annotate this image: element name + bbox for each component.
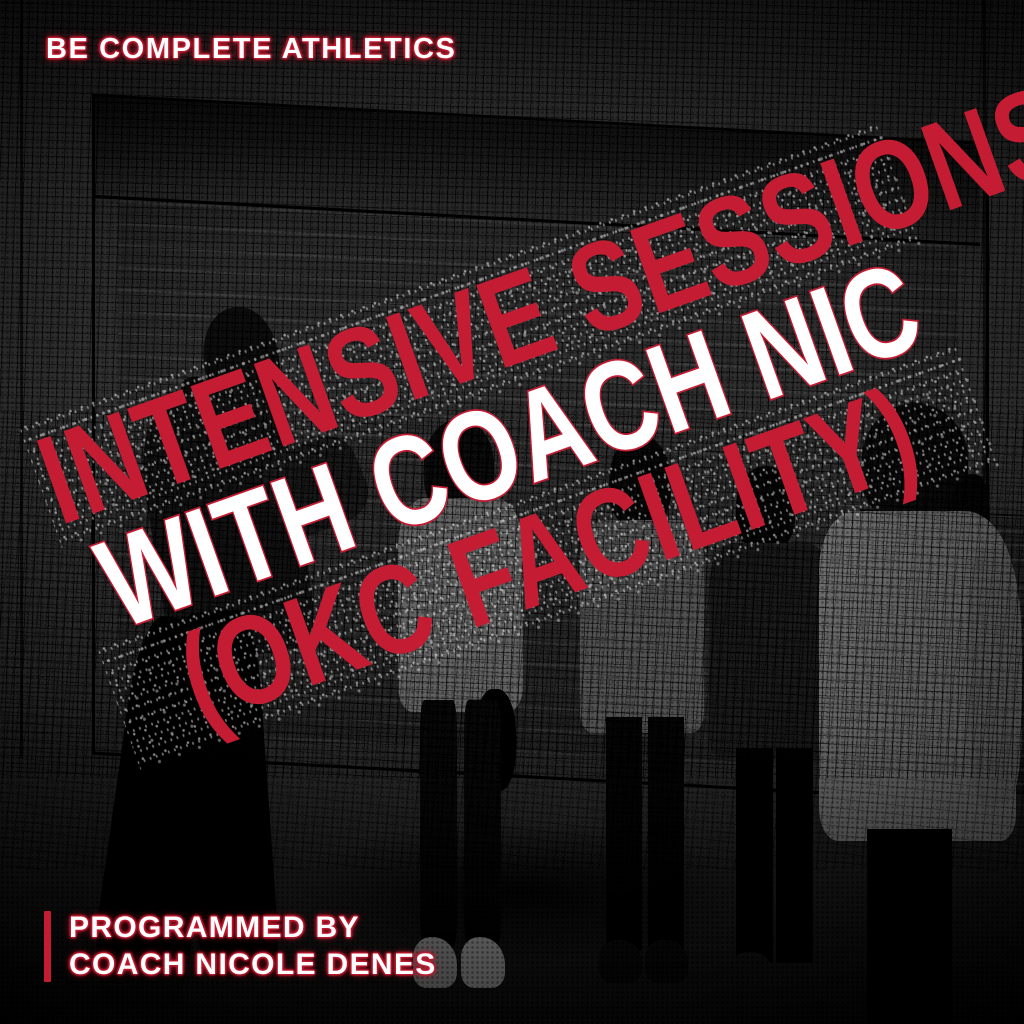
footer-credit: PROGRAMMED BY COACH NICOLE DENES <box>44 911 437 982</box>
footer-text-block: PROGRAMMED BY COACH NICOLE DENES <box>69 911 437 982</box>
background-photo <box>0 0 1024 1024</box>
footer-line-1: PROGRAMMED BY <box>69 911 437 945</box>
accent-bar <box>44 911 51 982</box>
red-color-tint <box>0 0 1024 1024</box>
footer-line-2: COACH NICOLE DENES <box>69 948 437 982</box>
brand-name: BE COMPLETE ATHLETICS <box>46 33 457 66</box>
promo-poster: BE COMPLETE ATHLETICS INTENSIVE SESSIONS… <box>0 0 1024 1024</box>
